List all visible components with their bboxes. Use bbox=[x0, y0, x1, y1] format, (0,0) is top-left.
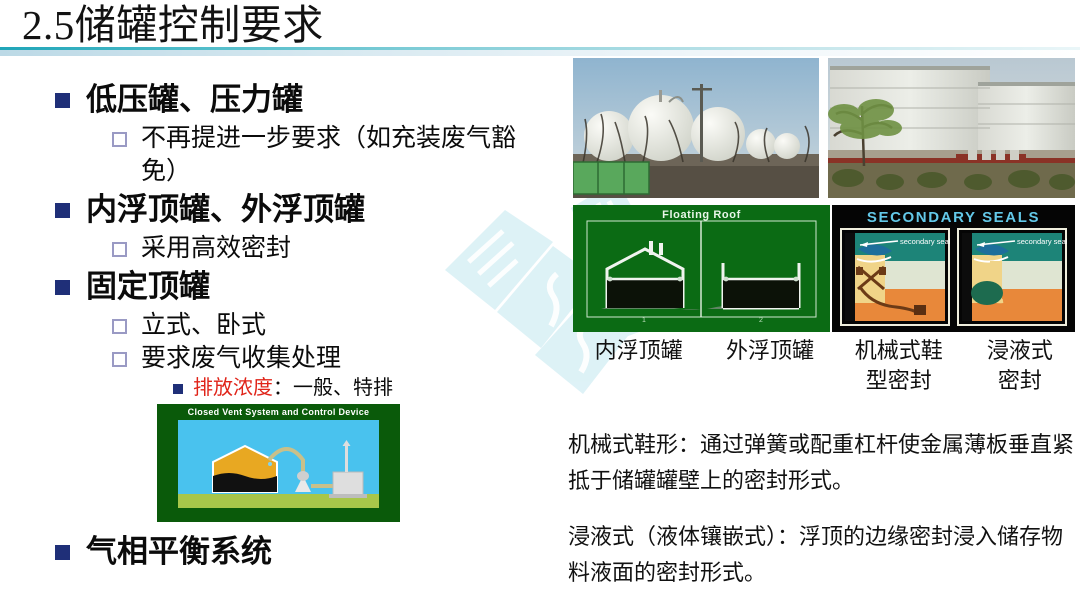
bullet-marker-square bbox=[55, 93, 70, 108]
caption-mechanical-shoe-seal: 机械式鞋 型密封 bbox=[836, 336, 962, 398]
svg-text:1: 1 bbox=[642, 317, 646, 324]
list-item: 气相平衡系统 bbox=[55, 530, 272, 574]
outline-text-l1: 内浮顶罐、外浮顶罐 bbox=[86, 188, 365, 232]
caption-external-floating-roof-tank: 外浮顶罐 bbox=[704, 336, 835, 398]
vent-picture-caption: Closed Vent System and Control Device bbox=[157, 407, 400, 417]
paragraph-mechanical-shoe: 机械式鞋形：通过弹簧或配重杠杆使金属薄板垂直紧抵于储罐罐壁上的密封形式。 bbox=[568, 427, 1080, 499]
svg-text:2: 2 bbox=[759, 317, 763, 324]
paragraph-liquid-mounted: 浸液式（液体镶嵌式）：浮顶的边缘密封浸入储存物料液面的密封形式。 bbox=[568, 519, 1080, 591]
list-item: 采用高效密封 bbox=[112, 232, 560, 265]
closed-vent-system-picture: Closed Vent System and Control Device bbox=[157, 404, 400, 522]
bullet-marker-hollow-square bbox=[112, 242, 127, 257]
bullet-marker-square bbox=[55, 280, 70, 295]
caption-mechanical-shoe-seal-line1: 机械式鞋 bbox=[836, 336, 962, 366]
bullet-marker-hollow-square bbox=[112, 352, 127, 367]
bullet-marker-square bbox=[55, 545, 70, 560]
image-captions-row: 内浮顶罐 外浮顶罐 机械式鞋 型密封 浸液式 密封 bbox=[573, 336, 1078, 398]
vent-picture-graphic bbox=[157, 404, 400, 522]
outline-text-l2: 不再提进一步要求（如充装废气豁免） bbox=[141, 122, 541, 188]
outline-list: 低压罐、压力罐 不再提进一步要求（如充装废气豁免） 内浮顶罐、外浮顶罐 采用高效… bbox=[55, 78, 560, 429]
outline-text-l2: 立式、卧式 bbox=[141, 309, 266, 342]
list-item: 固定顶罐 bbox=[55, 265, 560, 309]
caption-liquid-mounted-seal-line2: 密封 bbox=[962, 366, 1078, 396]
svg-text:secondary seal: secondary seal bbox=[1017, 237, 1068, 246]
list-item: 低压罐、压力罐 bbox=[55, 78, 560, 122]
outline-text-l2: 采用高效密封 bbox=[141, 232, 291, 265]
outline-text-l3: 排放浓度：一般、特排 bbox=[193, 375, 393, 402]
bullet-marker-hollow-square bbox=[112, 132, 127, 147]
svg-text:secondary seal: secondary seal bbox=[900, 237, 951, 246]
outline-text-l1: 低压罐、压力罐 bbox=[86, 78, 303, 122]
outline-text-l3-rest: ：一般、特排 bbox=[273, 377, 393, 399]
list-item: 内浮顶罐、外浮顶罐 bbox=[55, 188, 560, 232]
caption-liquid-mounted-seal: 浸液式 密封 bbox=[962, 336, 1078, 398]
diagram-secondary-seals: SECONDARY SEALS bbox=[832, 205, 1075, 332]
list-item: 排放浓度：一般、特排 bbox=[173, 375, 560, 402]
caption-liquid-mounted-seal-line1: 浸液式 bbox=[962, 336, 1078, 366]
bullet-marker-square bbox=[55, 203, 70, 218]
photo-large-storage-tanks bbox=[828, 58, 1075, 198]
caption-mechanical-shoe-seal-line2: 型密封 bbox=[836, 366, 962, 396]
title-divider-glow bbox=[0, 50, 1080, 56]
photo-spherical-pressure-tanks bbox=[573, 58, 819, 198]
outline-text-l1: 固定顶罐 bbox=[86, 265, 210, 309]
diagram-floating-roof: Floating Roof 1 2 bbox=[573, 205, 830, 332]
page-title: 2.5储罐控制要求 bbox=[22, 2, 324, 48]
list-item: 要求废气收集处理 bbox=[112, 342, 560, 375]
bullet-marker-small-square bbox=[173, 384, 183, 394]
bullet-marker-hollow-square bbox=[112, 319, 127, 334]
outline-text-l1: 气相平衡系统 bbox=[86, 530, 272, 574]
secondary-seals-caption: SECONDARY SEALS bbox=[832, 209, 1075, 226]
outline-text-l2: 要求废气收集处理 bbox=[141, 342, 341, 375]
emphasis-red: 排放浓度 bbox=[193, 377, 273, 399]
list-item: 不再提进一步要求（如充装废气豁免） bbox=[112, 122, 560, 188]
caption-inner-floating-roof-tank: 内浮顶罐 bbox=[573, 336, 704, 398]
floating-roof-caption: Floating Roof bbox=[573, 209, 830, 221]
slide: 2.5储罐控制要求 低压罐、压力罐 不再提进一步要求（如充装废气豁免） 内浮顶罐… bbox=[0, 0, 1080, 607]
list-item: 立式、卧式 bbox=[112, 309, 560, 342]
